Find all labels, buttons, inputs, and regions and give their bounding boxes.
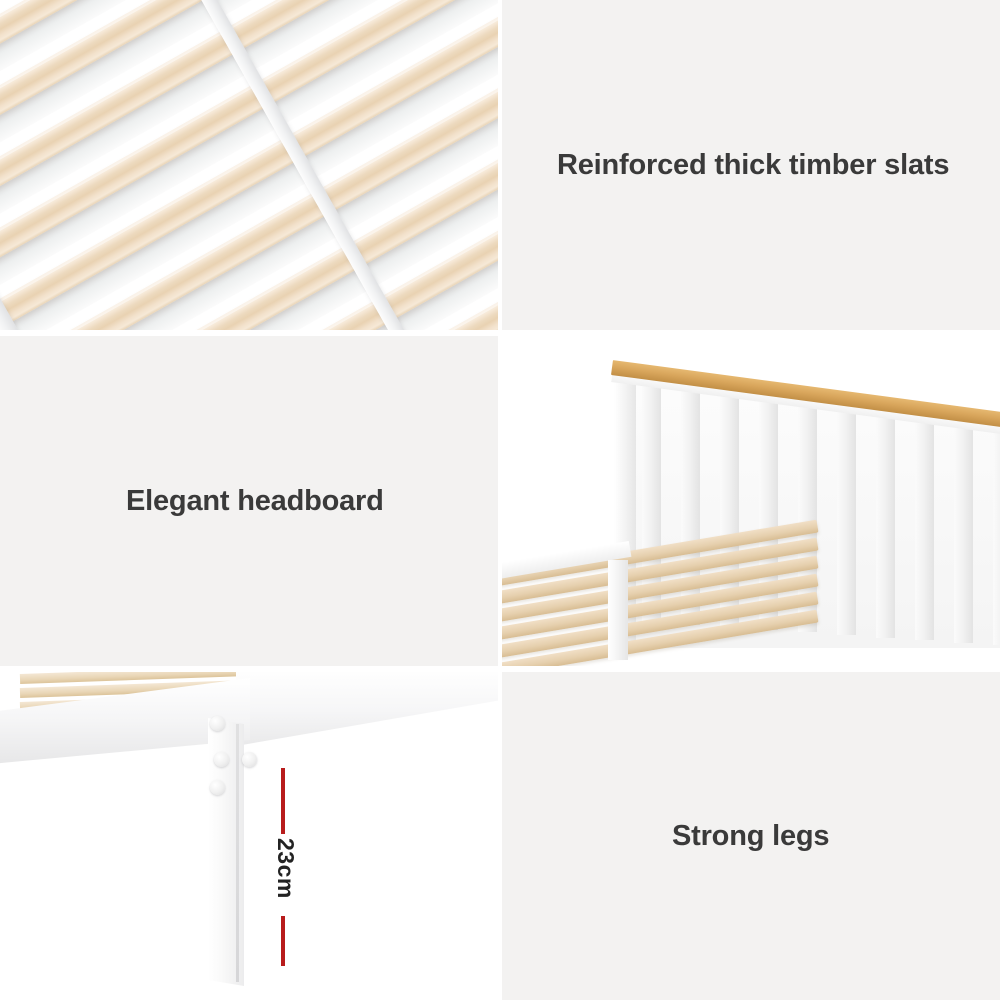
caption-legs-text: Strong legs: [672, 820, 829, 853]
caption-panel-headboard: Elegant headboard: [0, 336, 498, 666]
dimension-line-bottom: [281, 916, 285, 966]
caption-panel-legs: Strong legs: [502, 672, 1000, 1000]
feature-grid: Reinforced thick timber slats Elegant he…: [0, 0, 1000, 1000]
dimension-line-top: [281, 768, 285, 834]
dimension-label-23cm: 23cm: [272, 838, 299, 899]
bolt-cap: [214, 752, 229, 767]
bolt-cap: [210, 780, 225, 795]
headboard-spindle: [915, 404, 934, 640]
leg-edge-highlight: [236, 724, 239, 982]
timber-slats-photo: [0, 0, 498, 330]
headboard-spindle: [954, 409, 973, 643]
leg-illustration: [0, 672, 498, 1000]
headboard-spindle: [876, 400, 895, 638]
caption-panel-slats: Reinforced thick timber slats: [502, 0, 1000, 330]
slat-field: [0, 0, 498, 330]
bed-corner-post: [608, 560, 628, 660]
frame-side-rail-right: [236, 672, 498, 746]
caption-slats-text: Reinforced thick timber slats: [557, 149, 949, 182]
caption-headboard-text: Elegant headboard: [126, 485, 384, 518]
headboard-spindle: [837, 395, 856, 635]
bolt-cap: [210, 716, 225, 731]
bolt-cap: [242, 752, 257, 767]
headboard-spindle: [993, 413, 1000, 645]
headboard-photo: [502, 336, 1000, 666]
headboard-illustration: [502, 336, 1000, 666]
strong-legs-photo: 23cm: [0, 672, 498, 1000]
